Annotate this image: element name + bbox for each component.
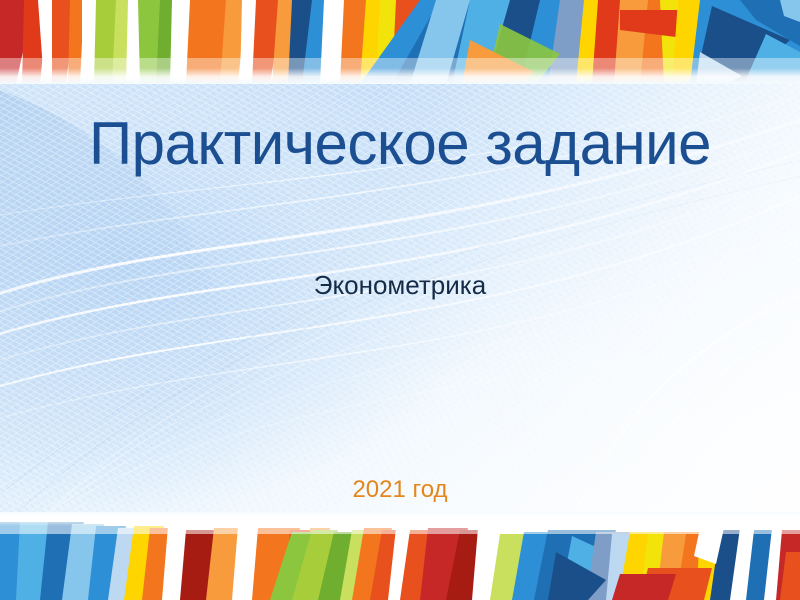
- slide-subtitle: Эконометрика: [100, 270, 700, 301]
- decorative-band-top: [0, 0, 800, 84]
- slide-year: 2021 год: [200, 476, 600, 504]
- title-slide: Практическое задание Эконометрика 2021 г…: [0, 0, 800, 600]
- slide-title: Практическое задание: [40, 112, 760, 177]
- decorative-band-bottom: [0, 512, 800, 600]
